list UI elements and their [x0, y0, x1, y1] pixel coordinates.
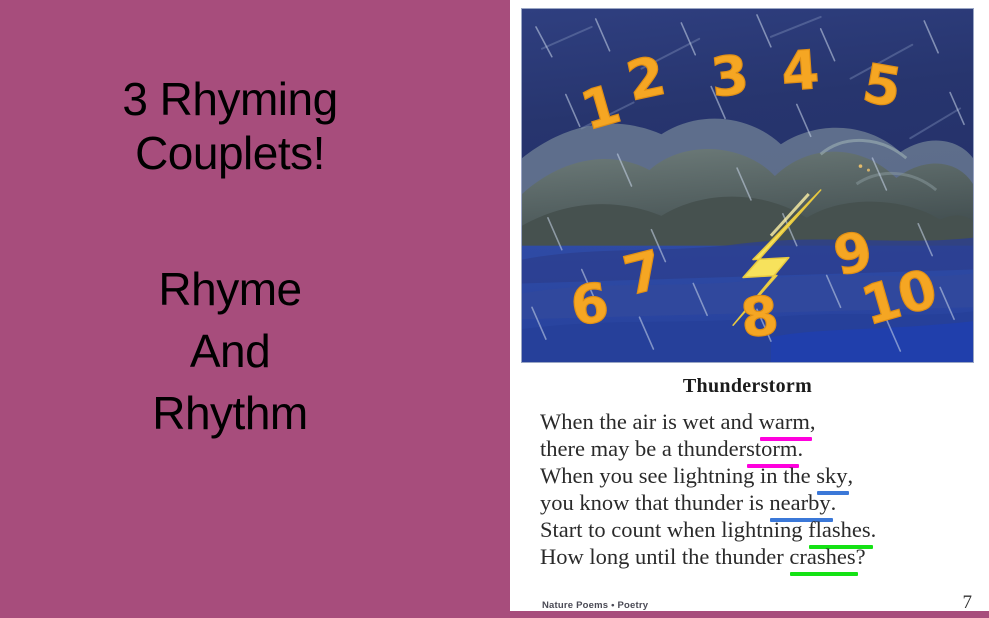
- svg-text:4: 4: [779, 38, 821, 103]
- headline-line-4: And: [0, 320, 460, 382]
- headline-line-3: Rhyme: [0, 258, 460, 320]
- rhyme-word-magenta: warm: [759, 409, 810, 434]
- poem-line: Start to count when lightning flashes.: [540, 516, 980, 543]
- slide-canvas: 3 Rhyming Couplets! Rhyme And Rhythm: [0, 0, 989, 618]
- subtitle-block: Rhyme And Rhythm: [0, 258, 460, 444]
- rhyme-word-blue: sky: [816, 463, 847, 488]
- poem-line-text: Start to count when lightning: [540, 517, 808, 542]
- poem-line: you know that thunder is nearby.: [540, 489, 980, 516]
- poem-line-text: When the air is wet and: [540, 409, 759, 434]
- poem-line-text: When you see lightning in the: [540, 463, 816, 488]
- poem-line-punctuation: .: [831, 490, 837, 515]
- poem-line-text: you know that thunder is: [540, 490, 769, 515]
- headline-line-1: 3 Rhyming: [0, 72, 460, 126]
- left-title-panel: 3 Rhyming Couplets! Rhyme And Rhythm: [0, 0, 510, 618]
- rhyme-word-green: crashes: [789, 544, 855, 569]
- footer-credit: Nature Poems • Poetry: [542, 600, 648, 611]
- thunderstorm-illustration: 1 2 3 4 5 6 7 8 9 10: [521, 8, 974, 363]
- poem-body: When the air is wet and warm,there may b…: [540, 408, 980, 570]
- poem-line-punctuation: ?: [856, 544, 866, 569]
- poem-line-punctuation: ,: [847, 463, 853, 488]
- rhyme-word-magenta: storm: [746, 436, 797, 461]
- headline-line-5: Rhythm: [0, 382, 460, 444]
- poem-line-punctuation: ,: [810, 409, 816, 434]
- rhyme-word-green: flashes: [808, 517, 870, 542]
- svg-text:3: 3: [708, 43, 752, 110]
- poem-line-text: How long until the thunder: [540, 544, 789, 569]
- svg-text:8: 8: [738, 284, 782, 351]
- poem-line: When you see lightning in the sky,: [540, 462, 980, 489]
- book-page: 1 2 3 4 5 6 7 8 9 10 Thunderstorm When t…: [510, 0, 989, 611]
- rhyme-word-blue: nearby: [769, 490, 830, 515]
- poem-line: When the air is wet and warm,: [540, 408, 980, 435]
- poem-line-punctuation: .: [871, 517, 877, 542]
- poem-line: there may be a thunderstorm.: [540, 435, 980, 462]
- page-bottom-strip: [510, 611, 989, 618]
- poem-line-text: there may be a thunder: [540, 436, 746, 461]
- illustration-artwork: 1 2 3 4 5 6 7 8 9 10: [522, 9, 973, 362]
- poem-line: How long until the thunder crashes?: [540, 543, 980, 570]
- headline-line-2: Couplets!: [0, 126, 460, 180]
- page-title: 3 Rhyming Couplets!: [0, 72, 460, 181]
- poem-title: Thunderstorm: [521, 375, 974, 398]
- poem-line-punctuation: .: [797, 436, 803, 461]
